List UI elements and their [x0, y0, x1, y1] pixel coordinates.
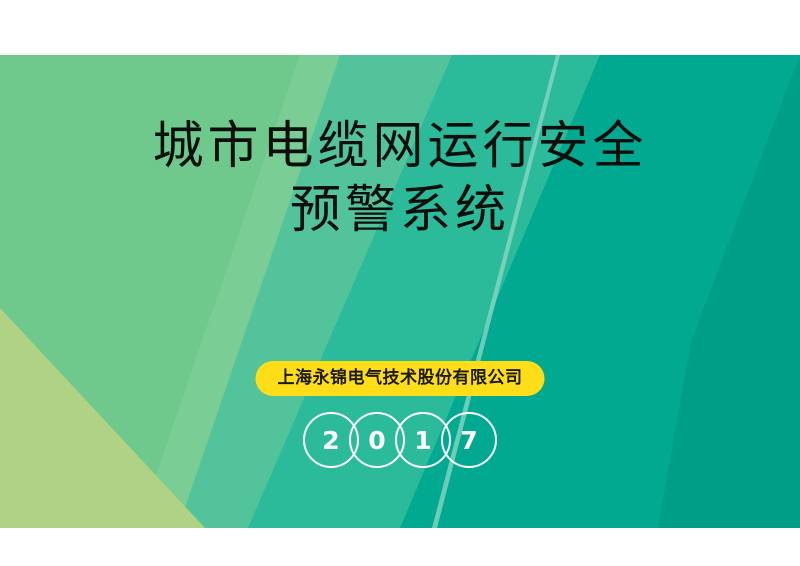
title-line-2: 预警系统 — [0, 179, 800, 243]
title-slide: 城市电缆网运行安全 预警系统 上海永锦电气技术股份有限公司 2 0 1 7 — [0, 55, 800, 528]
company-badge: 上海永锦电气技术股份有限公司 — [256, 361, 545, 396]
page-title: 城市电缆网运行安全 预警系统 — [0, 115, 800, 243]
year-ring-4: 7 — [441, 412, 497, 468]
year-digit-1: 2 — [322, 428, 339, 453]
slide-frame: 城市电缆网运行安全 预警系统 上海永锦电气技术股份有限公司 2 0 1 7 — [0, 0, 800, 566]
title-line-1: 城市电缆网运行安全 — [0, 115, 800, 179]
year-digit-4: 7 — [460, 428, 477, 453]
company-name: 上海永锦电气技术股份有限公司 — [278, 367, 523, 389]
year-badge: 2 0 1 7 — [303, 410, 497, 470]
year-digit-3: 1 — [414, 428, 431, 453]
band-yellow-green-triangle — [0, 308, 205, 528]
year-digit-2: 0 — [368, 428, 385, 453]
